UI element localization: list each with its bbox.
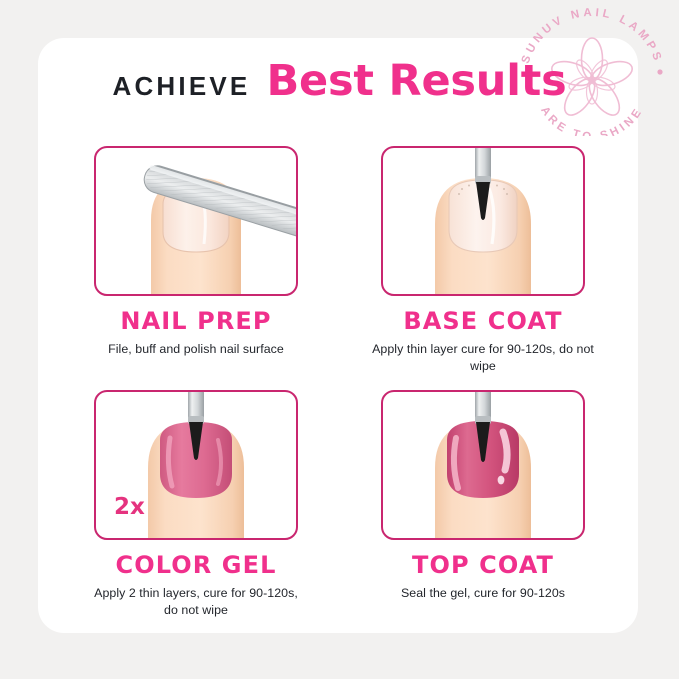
illustration-top-coat <box>381 390 585 540</box>
step-title-base-coat: BASE COAT <box>381 307 585 335</box>
step-description-top-coat: Seal the gel, cure for 90-120s <box>365 585 601 602</box>
repeat-count-badge: 2x <box>114 494 145 520</box>
illustration-color-gel: 2x <box>94 390 298 540</box>
page-title-prefix: ACHIEVE <box>112 71 250 101</box>
step-card-color-gel: 2x COLOR GEL Apply 2 thin layers, cure f… <box>94 390 298 618</box>
page-title-emphasis: Best Results <box>266 56 566 106</box>
step-card-top-coat: TOP COAT Seal the gel, cure for 90-120s <box>381 390 585 602</box>
step-description-color-gel: Apply 2 thin layers, cure for 90-120s, d… <box>88 585 304 618</box>
step-title-top-coat: TOP COAT <box>381 551 585 579</box>
gloss-dot <box>498 476 505 485</box>
illustration-base-coat <box>381 146 585 296</box>
page-title: ACHIEVEBest Results <box>0 56 679 106</box>
step-title-color-gel: COLOR GEL <box>94 551 298 579</box>
illustration-nail-prep <box>94 146 298 296</box>
step-card-nail-prep: NAIL PREP File, buff and polish nail sur… <box>94 146 298 358</box>
step-description-nail-prep: File, buff and polish nail surface <box>81 341 311 358</box>
step-card-base-coat: BASE COAT Apply thin layer cure for 90-1… <box>381 146 585 374</box>
step-title-nail-prep: NAIL PREP <box>94 307 298 335</box>
step-description-base-coat: Apply thin layer cure for 90-120s, do no… <box>368 341 598 374</box>
gloss-highlight-right <box>503 432 507 470</box>
